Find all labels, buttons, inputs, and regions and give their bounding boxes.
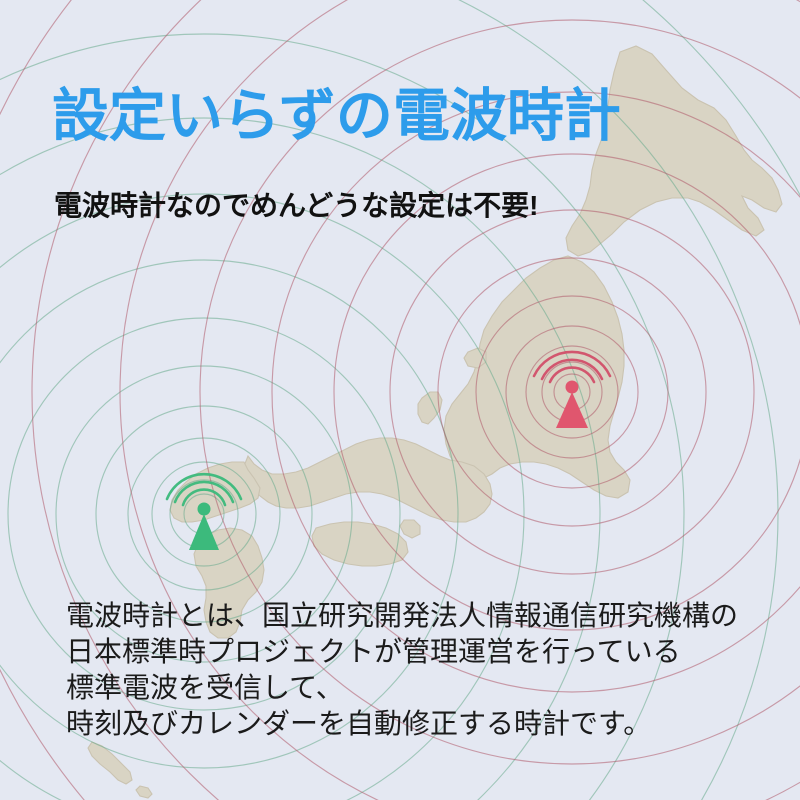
radio-clock-poster: 設定いらずの電波時計 電波時計なのでめんどうな設定は不要! 電波時計とは、国立研… xyxy=(0,0,800,800)
east-tower-beacon xyxy=(566,381,579,394)
map-and-waves-backdrop xyxy=(0,0,800,800)
west-tower-beacon xyxy=(198,503,211,516)
